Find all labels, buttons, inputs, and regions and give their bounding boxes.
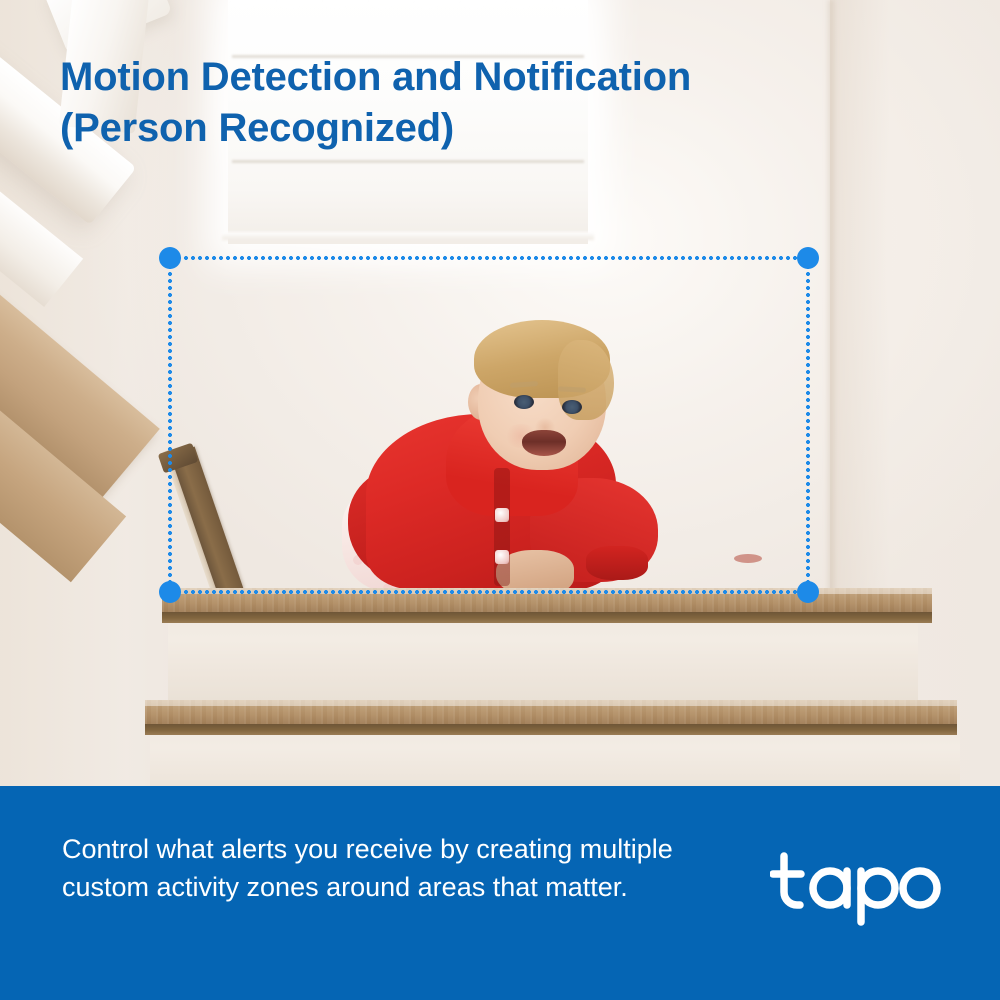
marketing-image: Motion Detection and Notification (Perso… [0, 0, 1000, 1000]
tapo-logo [770, 848, 942, 926]
window-sill [222, 232, 594, 240]
scene-photo: Motion Detection and Notification (Perso… [0, 0, 1000, 786]
tread-lip [162, 612, 932, 623]
tread-lip [145, 724, 957, 735]
page-title: Motion Detection and Notification (Perso… [60, 52, 920, 154]
window-rail-lower [232, 160, 584, 163]
zone-handle-bottom-right[interactable] [797, 581, 819, 603]
zone-handle-top-right[interactable] [797, 247, 819, 269]
banner-caption: Control what alerts you receive by creat… [62, 830, 752, 907]
page-title-line-2: (Person Recognized) [60, 103, 920, 154]
zone-handle-top-left[interactable] [159, 247, 181, 269]
bottom-banner: Control what alerts you receive by creat… [0, 786, 1000, 1000]
zone-border-left [168, 258, 172, 592]
zone-border-bottom [170, 590, 808, 594]
zone-handle-bottom-left[interactable] [159, 581, 181, 603]
page-title-line-1: Motion Detection and Notification [60, 52, 920, 103]
zone-border-right [806, 258, 810, 592]
window-valance [228, 0, 588, 20]
activity-zone-rectangle[interactable] [170, 258, 808, 592]
zone-border-top [170, 256, 808, 260]
tread-highlight [145, 700, 957, 706]
stair-tread-lower [145, 700, 957, 726]
